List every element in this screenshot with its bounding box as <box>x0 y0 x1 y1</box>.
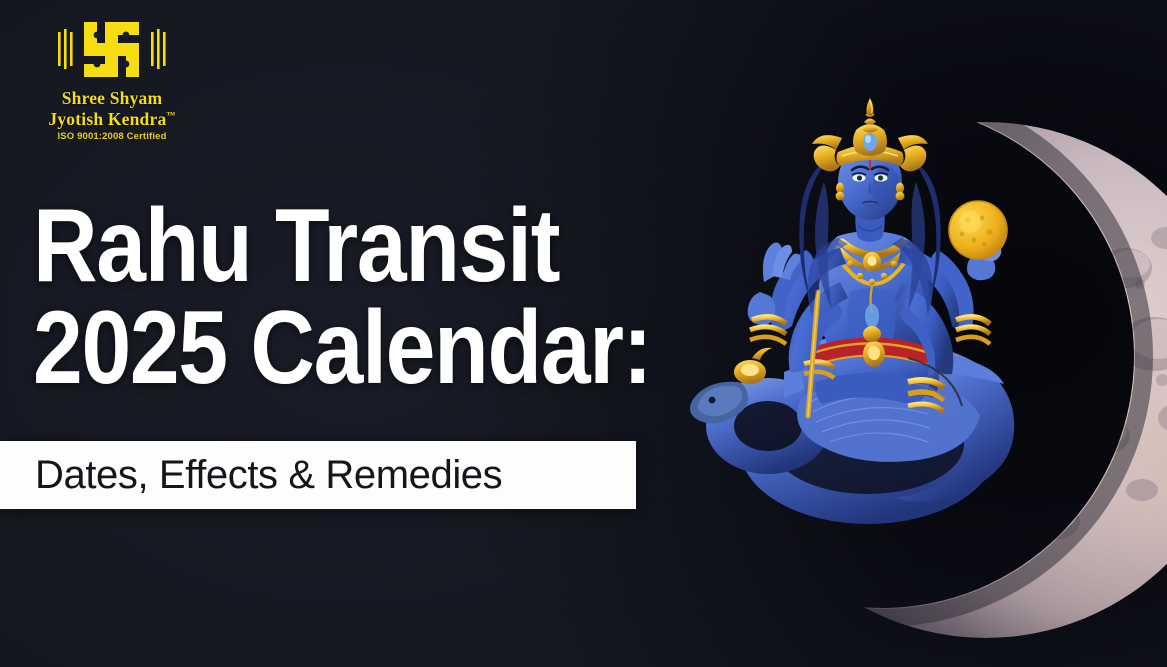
headline-line-2: 2025 Calendar: <box>33 298 583 400</box>
rahu-transit-banner: Shree Shyam Jyotish Kendra™ ISO 9001:200… <box>0 0 1167 667</box>
subtitle-text: Dates, Effects & Remedies <box>35 453 502 498</box>
logo-name-line1: Shree Shyam <box>22 88 202 109</box>
swastika-icon <box>54 18 170 82</box>
headline-line-1: Rahu Transit <box>33 196 583 298</box>
logo-name-text: Jyotish Kendra <box>48 109 166 129</box>
page-title: Rahu Transit 2025 Calendar: <box>33 196 673 400</box>
logo-name-line2: Jyotish Kendra™ <box>22 109 202 130</box>
trademark-symbol: ™ <box>166 110 175 120</box>
iso-certification: ISO 9001:2008 Certified <box>22 132 202 142</box>
brand-logo[interactable]: Shree Shyam Jyotish Kendra™ ISO 9001:200… <box>22 18 202 142</box>
subtitle-bar: Dates, Effects & Remedies <box>0 441 636 509</box>
